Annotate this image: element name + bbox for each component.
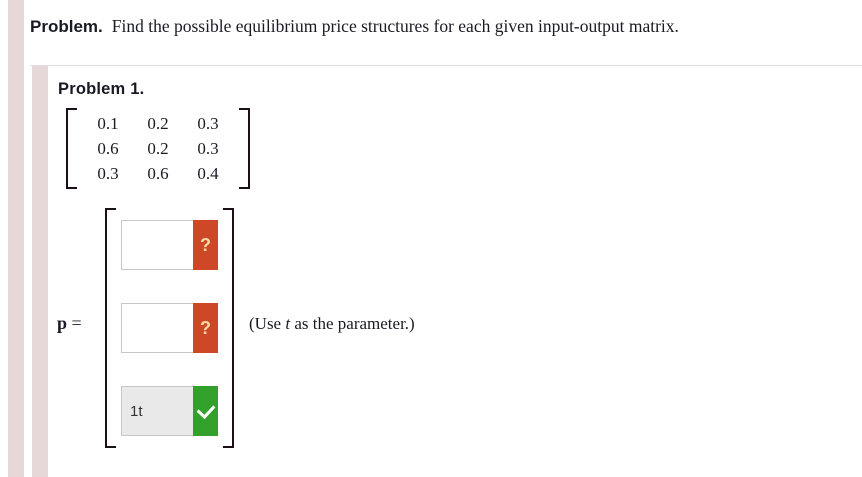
header-divider <box>30 65 862 66</box>
matrix-cell: 0.2 <box>133 136 183 161</box>
input-output-matrix: 0.1 0.2 0.3 0.6 0.2 0.3 0.3 0.6 0.4 <box>66 108 250 189</box>
answer-entry-row-1: ? <box>121 220 218 270</box>
answer-input-1[interactable] <box>121 220 193 270</box>
left-margin-stripe-inner <box>32 65 48 477</box>
answer-vector: ? ? <box>105 208 234 448</box>
answer-entry-row-2: ? <box>121 303 218 353</box>
matrix-cell: 0.6 <box>133 161 183 186</box>
parameter-note: (Use t as the parameter.) <box>249 314 415 334</box>
vector-entries: ? ? <box>116 208 223 448</box>
matrix-cell: 0.1 <box>83 111 133 136</box>
matrix-cell: 0.6 <box>83 136 133 161</box>
left-margin-stripe-outer <box>8 0 24 477</box>
answer-vector-label: p = <box>57 313 82 334</box>
problem-statement-text: Find the possible equilibrium price stru… <box>112 16 679 36</box>
parameter-note-close: as the parameter.) <box>294 314 414 333</box>
equals-sign: = <box>72 313 82 333</box>
parameter-symbol: t <box>285 314 290 333</box>
answer-input-2[interactable] <box>121 303 193 353</box>
checkmark-glyph <box>196 399 215 418</box>
problem-statement-lead: Problem. <box>30 17 103 36</box>
answer-entry-row-3 <box>121 386 218 436</box>
matrix-grid: 0.1 0.2 0.3 0.6 0.2 0.3 0.3 0.6 0.4 <box>77 108 239 189</box>
vector-symbol-p: p <box>57 313 67 333</box>
matrix-cell: 0.3 <box>183 111 233 136</box>
matrix-cell: 0.4 <box>183 161 233 186</box>
answer-input-3[interactable] <box>121 386 193 436</box>
matrix-cell: 0.3 <box>183 136 233 161</box>
parameter-note-open: (Use <box>249 314 281 333</box>
vector-bracket-right <box>223 208 234 448</box>
problem-statement: Problem.Find the possible equilibrium pr… <box>30 14 850 39</box>
vector-bracket-left <box>105 208 116 448</box>
question-mark-icon: ? <box>193 303 218 353</box>
problem-title: Problem 1. <box>58 80 144 99</box>
matrix-cell: 0.3 <box>83 161 133 186</box>
matrix-bracket-left <box>66 108 77 189</box>
matrix-bracket-right <box>239 108 250 189</box>
checkmark-icon <box>193 386 218 436</box>
question-mark-icon: ? <box>193 220 218 270</box>
matrix-cell: 0.2 <box>133 111 183 136</box>
